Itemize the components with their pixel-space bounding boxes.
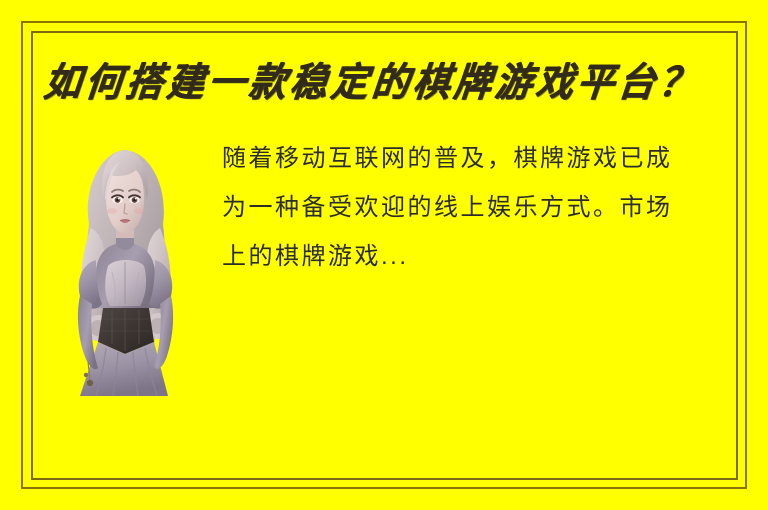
article-thumbnail-image — [50, 132, 200, 396]
excerpt-line: 随着移动互联网的普及，棋牌游戏已成 — [222, 134, 727, 183]
article-excerpt: 随着移动互联网的普及，棋牌游戏已成 为一种备受欢迎的线上娱乐方式。市场 上的棋牌… — [222, 134, 727, 281]
article-card: 如何搭建一款稳定的棋牌游戏平台？ — [0, 0, 768, 510]
excerpt-line: 为一种备受欢迎的线上娱乐方式。市场 — [222, 183, 727, 232]
woman-illustration-icon — [50, 132, 200, 396]
article-title: 如何搭建一款稳定的棋牌游戏平台？ — [41, 59, 726, 110]
excerpt-line: 上的棋牌游戏... — [222, 232, 727, 281]
